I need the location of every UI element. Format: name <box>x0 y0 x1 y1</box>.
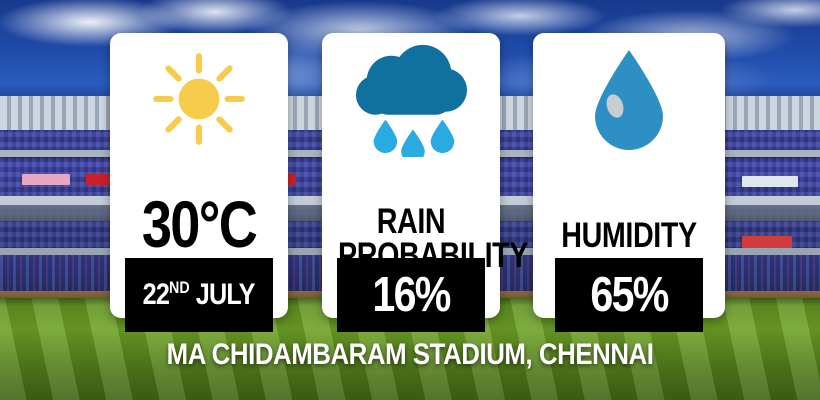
water-drop-icon <box>533 33 725 165</box>
rain-probability-card: RAIN PROBABILITY 16% <box>322 33 500 318</box>
venue-name: MA CHIDAMBARAM STADIUM, CHENNAI <box>167 338 654 372</box>
rain-label-line1: RAIN <box>338 205 484 239</box>
advertising-board <box>22 174 70 185</box>
date-month: JULY <box>190 278 255 311</box>
humidity-value: 65% <box>590 267 667 323</box>
sun-icon <box>110 33 288 165</box>
date-day: 22 <box>143 278 169 311</box>
humidity-label: HUMIDITY <box>550 219 707 253</box>
temperature-card: 30°C 22ND JULY <box>110 33 288 318</box>
humidity-card: HUMIDITY 65% <box>533 33 725 318</box>
humidity-badge: 65% <box>555 258 703 332</box>
advertising-board <box>742 236 792 248</box>
date-text: 22ND JULY <box>143 278 255 312</box>
date-badge: 22ND JULY <box>125 258 273 332</box>
temperature-value: 30°C <box>126 193 272 255</box>
date-ordinal-suffix: ND <box>169 278 190 297</box>
rain-cloud-icon <box>322 33 500 165</box>
rain-probability-value: 16% <box>372 267 449 323</box>
weather-infographic: 30°C 22ND JULY <box>0 0 820 400</box>
venue-banner: MA CHIDAMBARAM STADIUM, CHENNAI <box>0 338 820 372</box>
advertising-board <box>742 176 798 187</box>
rain-probability-badge: 16% <box>337 258 485 332</box>
